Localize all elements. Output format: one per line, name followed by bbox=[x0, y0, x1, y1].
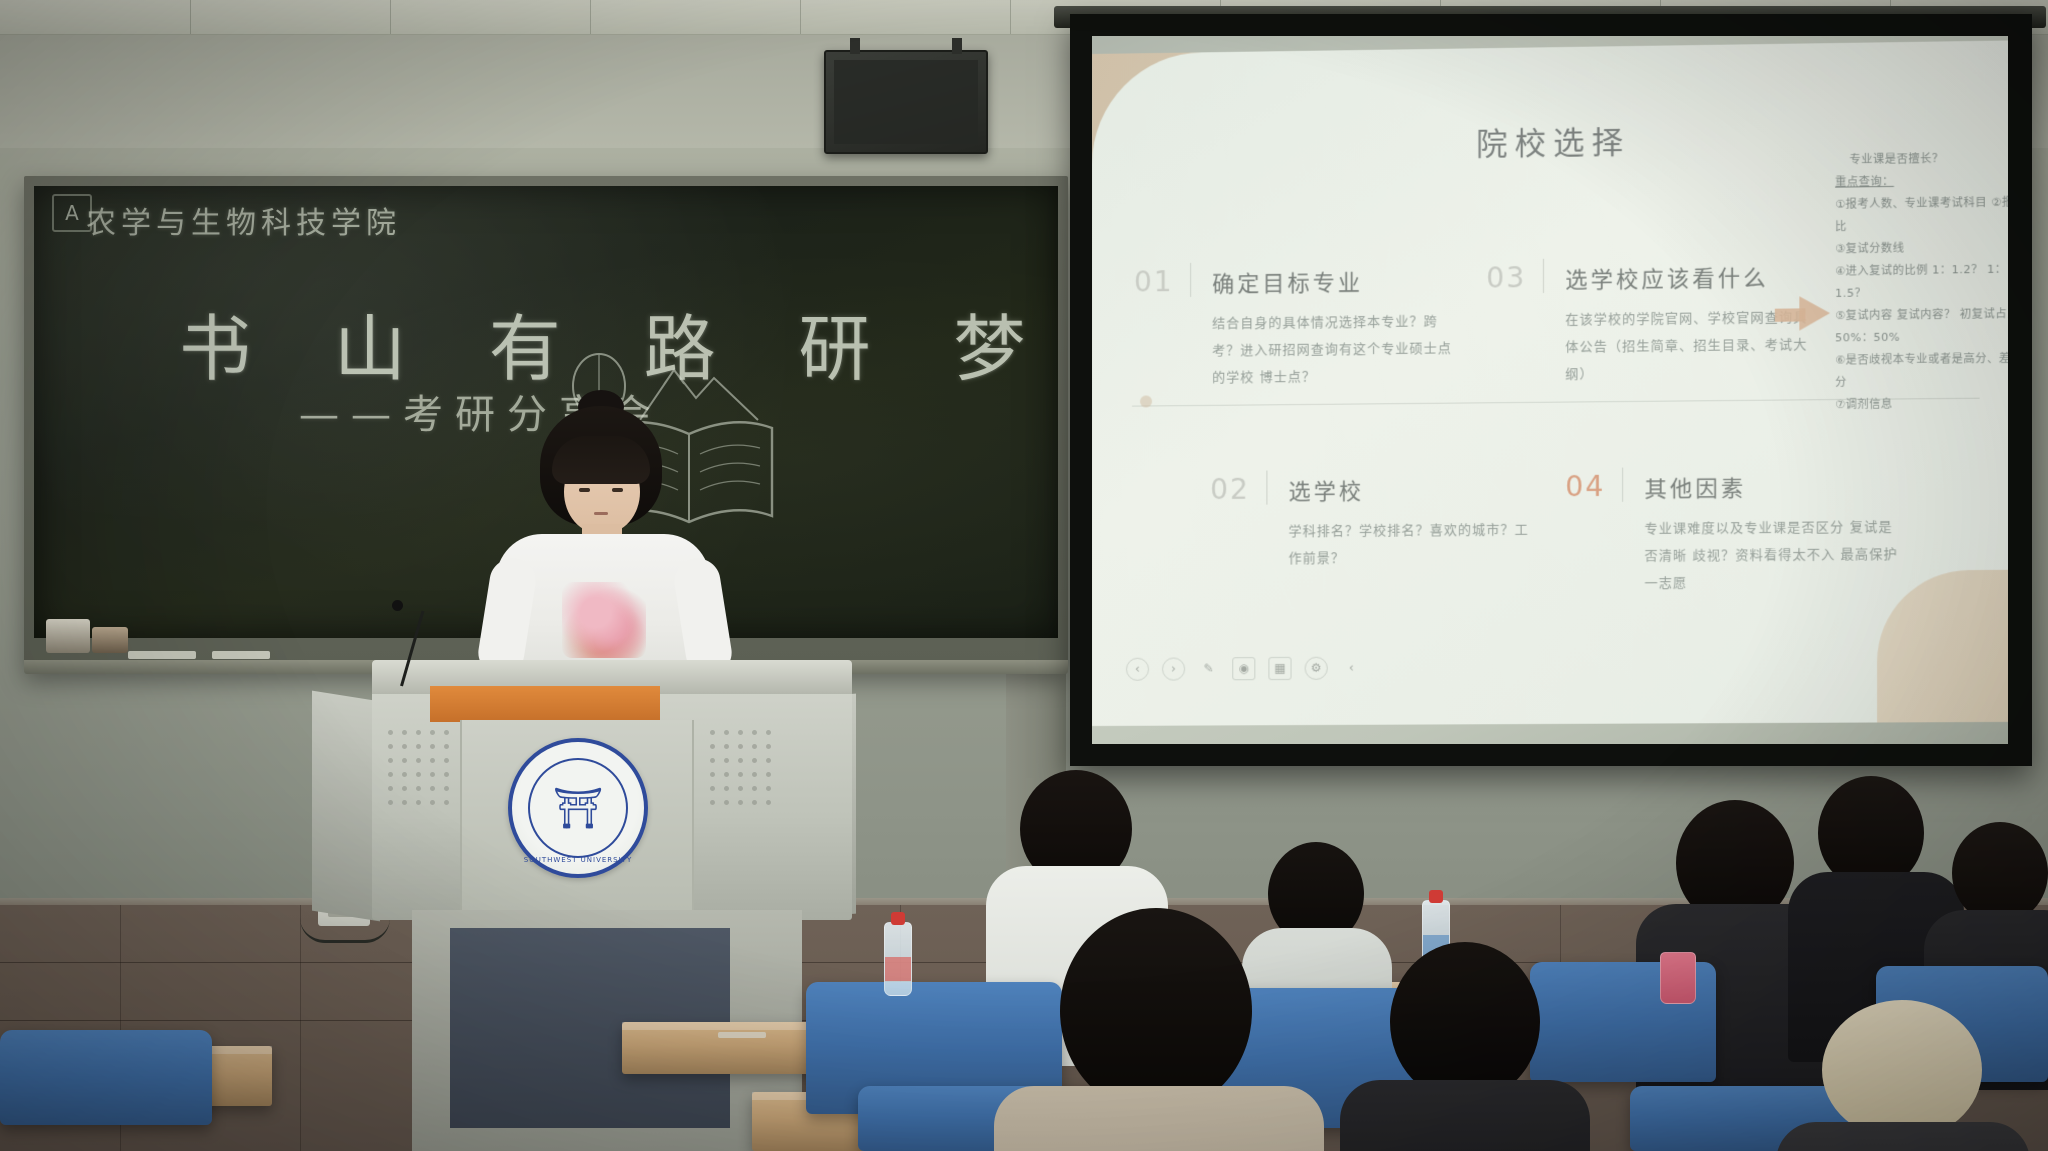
podium-orange-trim bbox=[430, 686, 660, 722]
student-body bbox=[1776, 1122, 2030, 1151]
detail-lead: 专业课是否擅长？ bbox=[1849, 147, 2008, 172]
presenter-shirt-print bbox=[562, 582, 646, 658]
college-logo-mark: A bbox=[65, 201, 79, 225]
slide-section-number: 03 bbox=[1486, 261, 1526, 295]
presenter bbox=[478, 406, 728, 676]
chalk-stick bbox=[128, 651, 196, 659]
student-head bbox=[1060, 908, 1252, 1114]
presenter-eye-left bbox=[579, 488, 590, 492]
slide-section-heading: 其他因素 bbox=[1644, 471, 1746, 504]
slide-section-number: 02 bbox=[1210, 473, 1250, 506]
prev-slide-icon[interactable]: ‹ bbox=[1126, 657, 1149, 680]
detail-item: ③复试分数线 bbox=[1835, 236, 2008, 261]
slide-arrow-head-icon bbox=[1799, 296, 1830, 331]
presenter-mouth bbox=[594, 512, 608, 515]
blackboard-eraser-secondary bbox=[92, 627, 128, 653]
settings-icon[interactable]: ⚙ bbox=[1305, 656, 1328, 679]
next-slide-icon[interactable]: › bbox=[1162, 657, 1185, 680]
crest-inner-mark: ⛩ bbox=[528, 758, 628, 858]
detail-item: ⑥是否歧视本专业或者是高分、差复分 bbox=[1835, 348, 2008, 394]
detail-item: ①报考人数、专业课考试科目 ②报录比 bbox=[1835, 191, 2008, 238]
slide-detail-panel: 专业课是否擅长？ 重点查询： ①报考人数、专业课考试科目 ②报录比 ③复试分数线… bbox=[1835, 147, 2008, 417]
blackboard-eraser bbox=[46, 619, 90, 653]
podium-vent-left bbox=[388, 730, 449, 805]
pink-cup bbox=[1660, 952, 1696, 1004]
projection-screen-border: 院校选择 01 确定目标专业 结合自身的具体情况选择本专业？跨考？进入研招网查询… bbox=[1070, 14, 2032, 766]
slide-section-body: 专业课难度以及专业课是否区分 复试是否清晰 歧视？资料看得太不入 最高保护一志愿 bbox=[1644, 514, 1899, 598]
blackboard-header-text: 农学与生物科技学院 bbox=[86, 198, 401, 242]
student-head bbox=[1952, 822, 2048, 924]
slide-section-heading: 确定目标专业 bbox=[1212, 265, 1363, 299]
podium-side-wing-left bbox=[312, 691, 380, 922]
presenter-eye-right bbox=[612, 488, 623, 492]
student-head bbox=[1390, 942, 1540, 1102]
desk-pen bbox=[718, 1032, 766, 1038]
university-crest-icon: ⛩ SOUTHWEST UNIVERSITY bbox=[508, 738, 648, 878]
podium-vent-right bbox=[710, 730, 771, 805]
student-body bbox=[1340, 1080, 1590, 1151]
detail-item: ⑤复试内容 复试内容？ 初复试占比50%：50% bbox=[1835, 303, 2008, 350]
pen-icon[interactable]: ✎ bbox=[1198, 658, 1219, 679]
detail-item: ⑦调剂信息 bbox=[1835, 392, 2008, 416]
microphone-head-icon bbox=[392, 600, 403, 611]
slide-section-heading: 选学校 bbox=[1289, 474, 1365, 507]
classroom-scene: A 农学与生物科技学院 书 山 有 路 研 梦 为 诗 ——考研分享会 bbox=[0, 0, 2048, 1151]
pointer-icon[interactable]: ◉ bbox=[1232, 657, 1255, 680]
student-body bbox=[994, 1086, 1324, 1151]
slide-section-body: 学科排名？学校排名？喜欢的城市？工作前景？ bbox=[1289, 517, 1541, 573]
slide-section-number: 01 bbox=[1134, 265, 1174, 298]
slide-section-heading: 选学校应该看什么 bbox=[1565, 260, 1768, 295]
water-bottle bbox=[884, 922, 912, 996]
lectern-podium: ⛩ SOUTHWEST UNIVERSITY bbox=[312, 660, 852, 1151]
ppt-playback-toolbar[interactable]: ‹ › ✎ ◉ ▦ ⚙ ‹ bbox=[1126, 652, 1362, 683]
slide-bullet-dot bbox=[1140, 395, 1152, 407]
grid-view-icon[interactable]: ▦ bbox=[1268, 656, 1291, 679]
slide-section-body: 结合自身的具体情况选择本专业？跨考？进入研招网查询有这个专业硕士点的学校 博士点… bbox=[1212, 308, 1464, 392]
wall-speaker-box bbox=[824, 50, 988, 154]
detail-subhead: 重点查询： bbox=[1835, 169, 2008, 194]
detail-item: ④进入复试的比例 1：1.2？ 1：1.5？ bbox=[1835, 258, 2008, 305]
student-head bbox=[1822, 1000, 1982, 1140]
more-options-icon[interactable]: ‹ bbox=[1341, 657, 1362, 678]
slide-section-number: 04 bbox=[1565, 470, 1605, 504]
projection-screen: 院校选择 01 确定目标专业 结合自身的具体情况选择本专业？跨考？进入研招网查询… bbox=[1092, 36, 2008, 744]
chalk-stick bbox=[212, 651, 270, 659]
powerpoint-slide: 院校选择 01 确定目标专业 结合自身的具体情况选择本专业？跨考？进入研招网查询… bbox=[1092, 40, 2008, 726]
crest-subtitle: SOUTHWEST UNIVERSITY bbox=[524, 856, 632, 864]
presenter-bangs bbox=[552, 436, 650, 484]
classroom-chair bbox=[0, 1030, 212, 1125]
